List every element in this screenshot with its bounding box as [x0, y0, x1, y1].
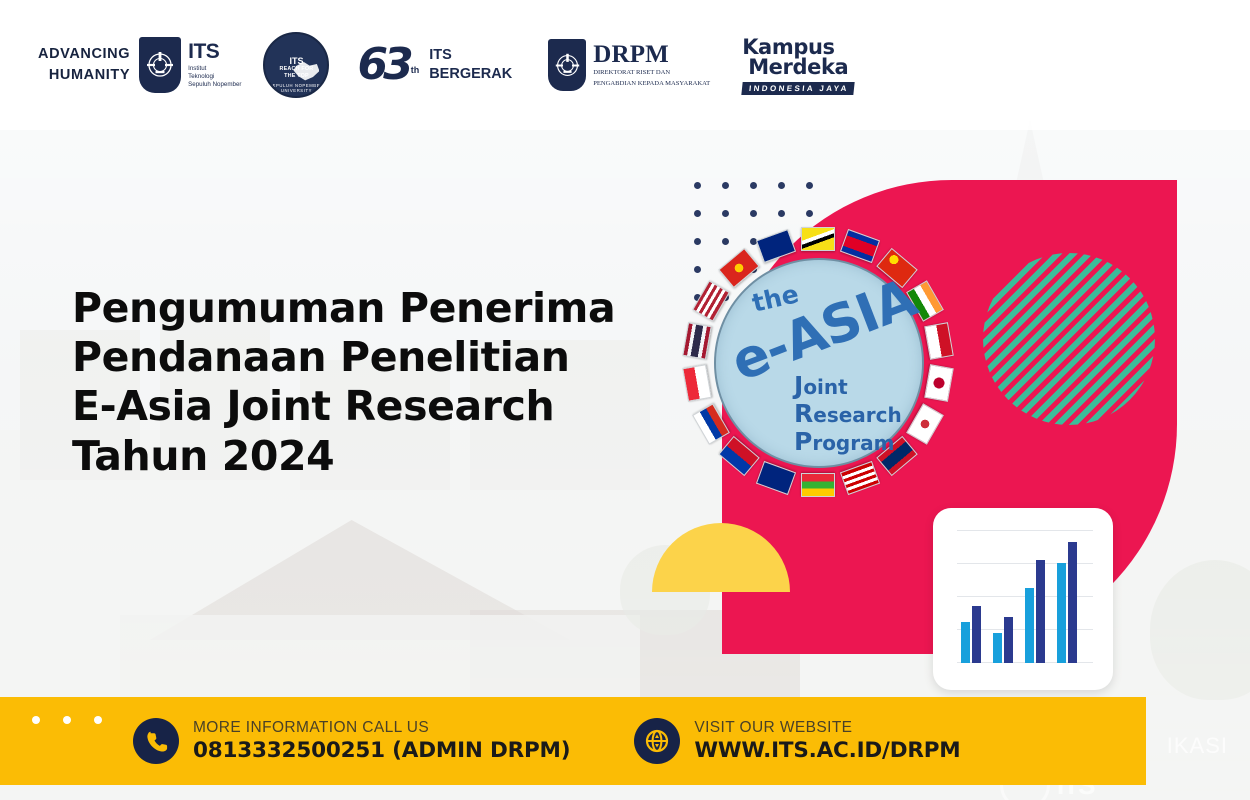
background-watermark-text: IKASI: [1167, 733, 1228, 759]
headline-line-4: Tahun 2024: [72, 432, 712, 481]
bergerak-line-1: ITS: [429, 46, 512, 65]
footer-dot: [63, 716, 71, 724]
striped-teal-circle: [983, 253, 1155, 425]
poster-canvas: IKASI ITS the e-ASIA Joint Research Prog…: [0, 0, 1250, 800]
logo-its-bergerak: 63th ITS BERGERAK: [357, 43, 512, 87]
emblem-oint: oint: [803, 375, 847, 399]
bergerak-anniversary-mark: 63th: [357, 43, 419, 87]
emblem-program-text: Joint Research Program: [794, 372, 902, 456]
footer-dot: [32, 716, 40, 724]
drpm-subtitle-2: PENGABDIAN KEPADA MASYARAKAT: [593, 80, 710, 89]
anniversary-suffix: th: [411, 65, 420, 75]
emblem-research-line: Research: [794, 400, 902, 428]
chart-bar: [1057, 563, 1066, 663]
its-sub-line-3: Sepuluh Nopember: [188, 81, 241, 89]
chart-bar: [1025, 588, 1034, 663]
chart-plot-area: [957, 530, 1089, 663]
its-wordmark: ITS Institut Teknologi Sepuluh Nopember: [188, 41, 241, 90]
logo-advancing-humanity-its: ADVANCING HUMANITY ITS Institut Teknolog…: [38, 37, 241, 93]
footer-phone-contact[interactable]: MORE INFORMATION CALL US 0813332500251 (…: [133, 718, 570, 764]
logo-kampus-merdeka: Kampus Merdeka INDONESIA JAYA: [740, 34, 856, 96]
seal-ring-text: SEPULUH NOPEMBER UNIVERSITY: [265, 83, 327, 93]
footer-phone-value: 0813332500251 (ADMIN DRPM): [193, 738, 570, 764]
globe-icon: [634, 718, 680, 764]
drpm-subtitle-1: DIREKTORAT RISET DAN: [593, 69, 710, 78]
phone-icon: [133, 718, 179, 764]
emblem-r: R: [794, 399, 813, 428]
its-wordmark-sub: Institut Teknologi Sepuluh Nopember: [188, 65, 241, 90]
chart-bar: [1036, 560, 1045, 663]
drpm-wordmark: DRPM DIREKTORAT RISET DAN PENGABDIAN KEP…: [593, 42, 710, 89]
footer-decorative-dots: [32, 716, 102, 724]
kampus-line-2: Merdeka: [748, 58, 854, 78]
bergerak-line-2: BERGERAK: [429, 65, 512, 84]
bar-group: [961, 606, 981, 663]
emblem-rogram: rogram: [812, 431, 894, 455]
advancing-line-2: HUMANITY: [38, 65, 130, 86]
logo-drpm: DRPM DIREKTORAT RISET DAN PENGABDIAN KEP…: [548, 39, 710, 91]
drpm-title: DRPM: [593, 42, 710, 67]
chart-bar: [961, 622, 970, 663]
bar-chart-card: [933, 508, 1113, 690]
headline-line-3: E-Asia Joint Research: [72, 382, 712, 431]
footer-phone-text: MORE INFORMATION CALL US 0813332500251 (…: [193, 718, 570, 763]
its-shield-icon: [139, 37, 181, 93]
emblem-p: P: [794, 427, 812, 456]
emblem-joint-line: Joint: [794, 372, 902, 400]
footer-website-contact[interactable]: VISIT OUR WEBSITE WWW.ITS.AC.ID/DRPM: [634, 718, 960, 764]
advancing-humanity-text: ADVANCING HUMANITY: [38, 44, 130, 86]
logo-its-reach-for-the-top: ITS REACH FOR THE TOP SEPULUH NOPEMBER U…: [263, 32, 329, 98]
footer-phone-label: MORE INFORMATION CALL US: [193, 718, 570, 737]
footer-website-text: VISIT OUR WEBSITE WWW.ITS.AC.ID/DRPM: [694, 718, 960, 763]
chart-bar: [1068, 542, 1077, 663]
emblem-program-line: Program: [794, 428, 902, 456]
emblem-j: J: [794, 371, 803, 400]
chart-bars: [961, 530, 1089, 663]
bar-group: [993, 617, 1013, 663]
e-asia-emblem: the e-ASIA Joint Research Program: [682, 222, 950, 522]
chart-bar: [1004, 617, 1013, 663]
advancing-line-1: ADVANCING: [38, 44, 130, 65]
chart-bar: [972, 606, 981, 663]
anniversary-number: 63: [357, 39, 408, 90]
footer-website-label: VISIT OUR WEBSITE: [694, 718, 960, 737]
drpm-shield-icon: [548, 39, 586, 91]
emblem-esearch: esearch: [813, 403, 902, 427]
bar-group: [1025, 560, 1045, 663]
footer-website-value: WWW.ITS.AC.ID/DRPM: [694, 738, 960, 764]
footer-dot: [94, 716, 102, 724]
kampus-tagline: INDONESIA JAYA: [742, 82, 855, 95]
header-logo-strip: ADVANCING HUMANITY ITS Institut Teknolog…: [0, 0, 1250, 130]
headline-line-2: Pendanaan Penelitian: [72, 333, 712, 382]
headline-line-1: Pengumuman Penerima: [72, 284, 712, 333]
emblem-wordmark: the e-ASIA Joint Research Program: [682, 222, 950, 522]
footer-contact-bar: MORE INFORMATION CALL US 0813332500251 (…: [0, 697, 1146, 785]
page-title: Pengumuman Penerima Pendanaan Penelitian…: [72, 284, 712, 481]
its-sub-line-2: Teknologi: [188, 73, 241, 81]
bergerak-wordmark: ITS BERGERAK: [429, 46, 512, 84]
bar-group: [1057, 542, 1077, 663]
chart-bar: [993, 633, 1002, 663]
its-sub-line-1: Institut: [188, 65, 241, 73]
its-wordmark-label: ITS: [188, 41, 241, 62]
